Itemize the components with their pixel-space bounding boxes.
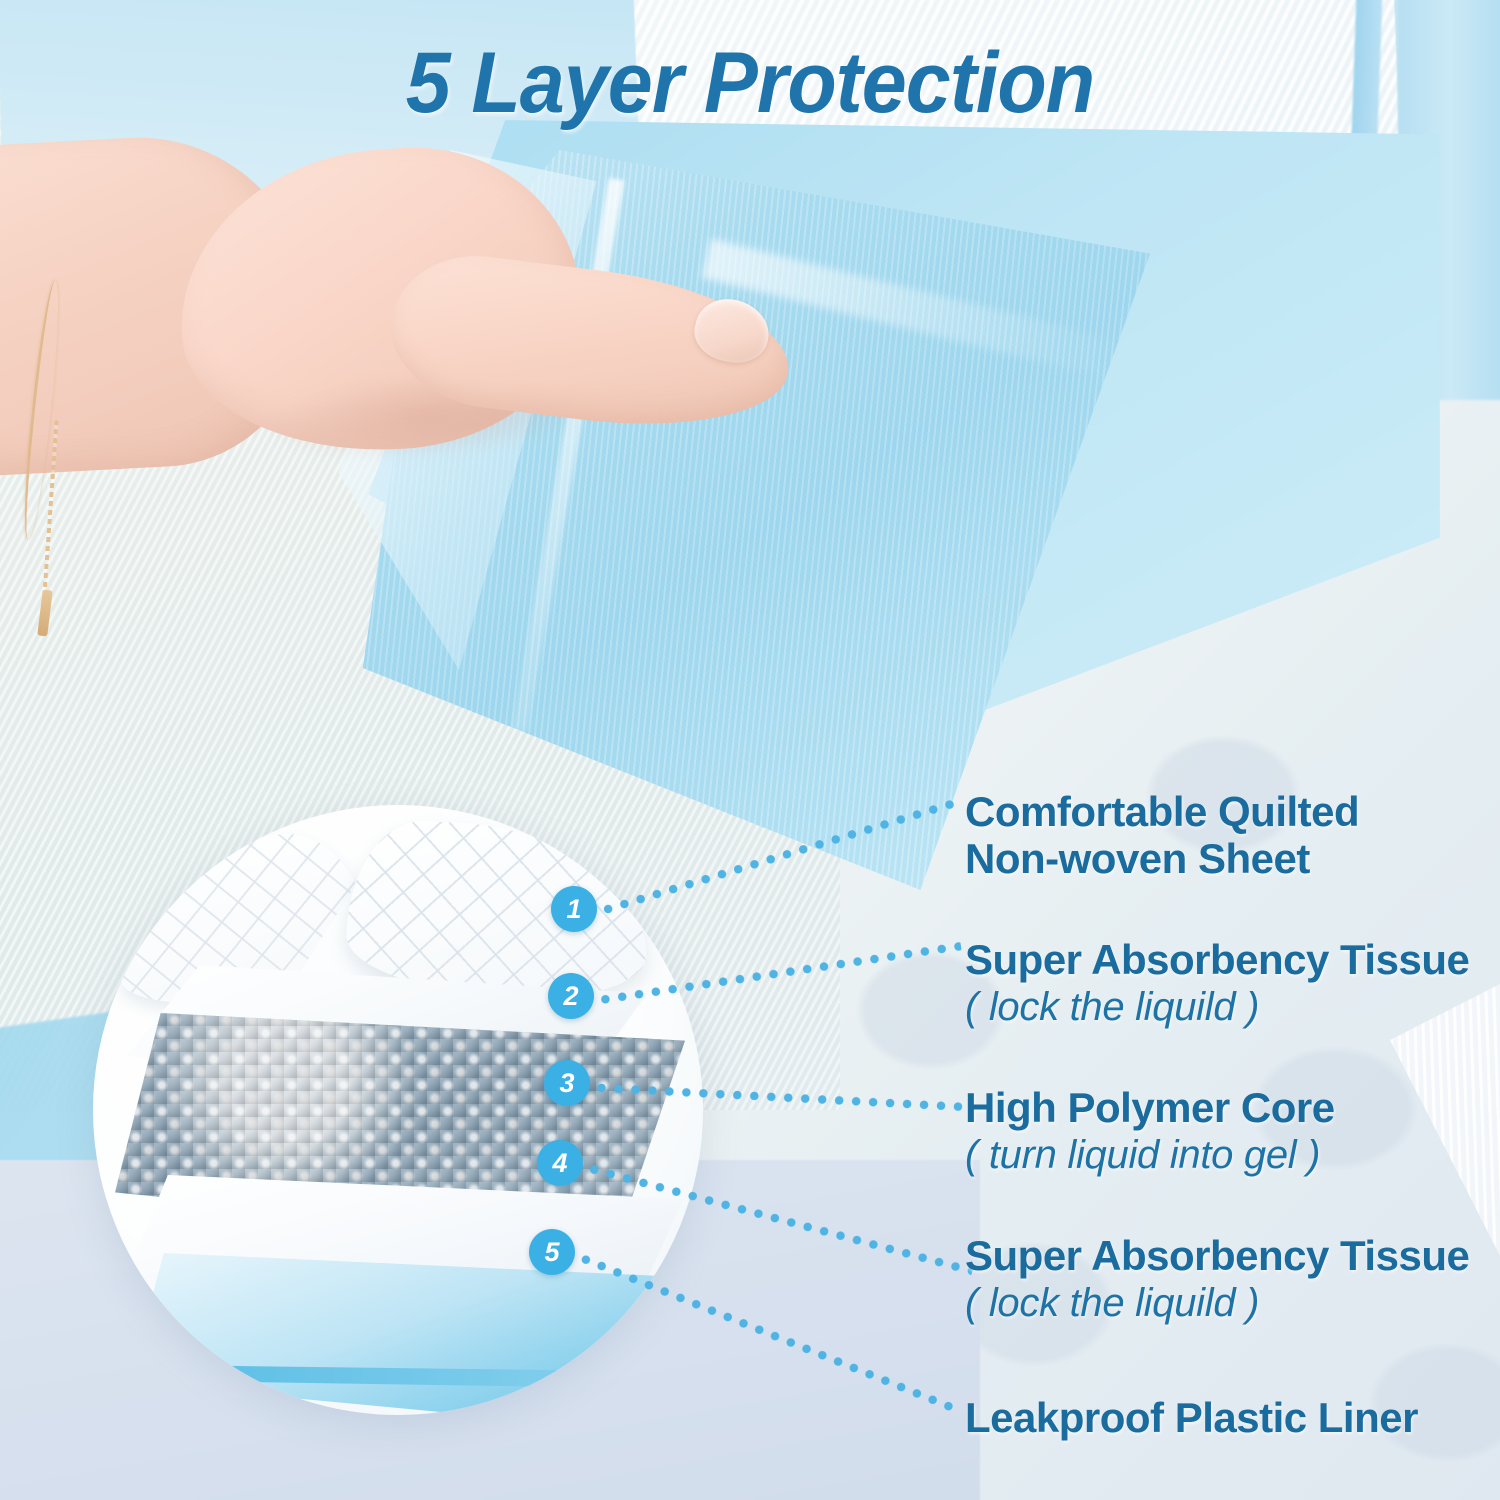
layer-cutaway-inset <box>93 805 703 1415</box>
callout-3-sub: ( turn liquid into gel ) <box>965 1131 1335 1179</box>
callout-2: Super Absorbency Tissue ( lock the liqui… <box>965 936 1469 1031</box>
callout-2-line1: Super Absorbency Tissue <box>965 936 1469 983</box>
callout-1-line2: Non-woven Sheet <box>965 835 1359 882</box>
callout-3: High Polymer Core ( turn liquid into gel… <box>965 1084 1335 1179</box>
callout-4-sub: ( lock the liquild ) <box>965 1279 1469 1327</box>
callout-1: Comfortable Quilted Non-woven Sheet <box>965 788 1359 882</box>
callout-5-line1: Leakproof Plastic Liner <box>965 1394 1418 1441</box>
callout-5: Leakproof Plastic Liner <box>965 1394 1418 1441</box>
hand-photo <box>0 120 800 550</box>
page-title: 5 Layer Protection <box>45 34 1455 133</box>
layer-badge-5[interactable]: 5 <box>529 1229 575 1275</box>
product-infographic: 1 2 3 4 5 5 Layer Protection Comfortable… <box>0 0 1500 1500</box>
callout-2-sub: ( lock the liquild ) <box>965 983 1469 1031</box>
callout-3-line1: High Polymer Core <box>965 1084 1335 1131</box>
layer-badge-1[interactable]: 1 <box>551 886 597 932</box>
callout-1-line1: Comfortable Quilted <box>965 788 1359 835</box>
layer-badge-4[interactable]: 4 <box>537 1140 583 1186</box>
callout-4-line1: Super Absorbency Tissue <box>965 1232 1469 1279</box>
callout-4: Super Absorbency Tissue ( lock the liqui… <box>965 1232 1469 1327</box>
layer-badge-2[interactable]: 2 <box>548 973 594 1019</box>
layer-badge-3[interactable]: 3 <box>544 1060 590 1106</box>
